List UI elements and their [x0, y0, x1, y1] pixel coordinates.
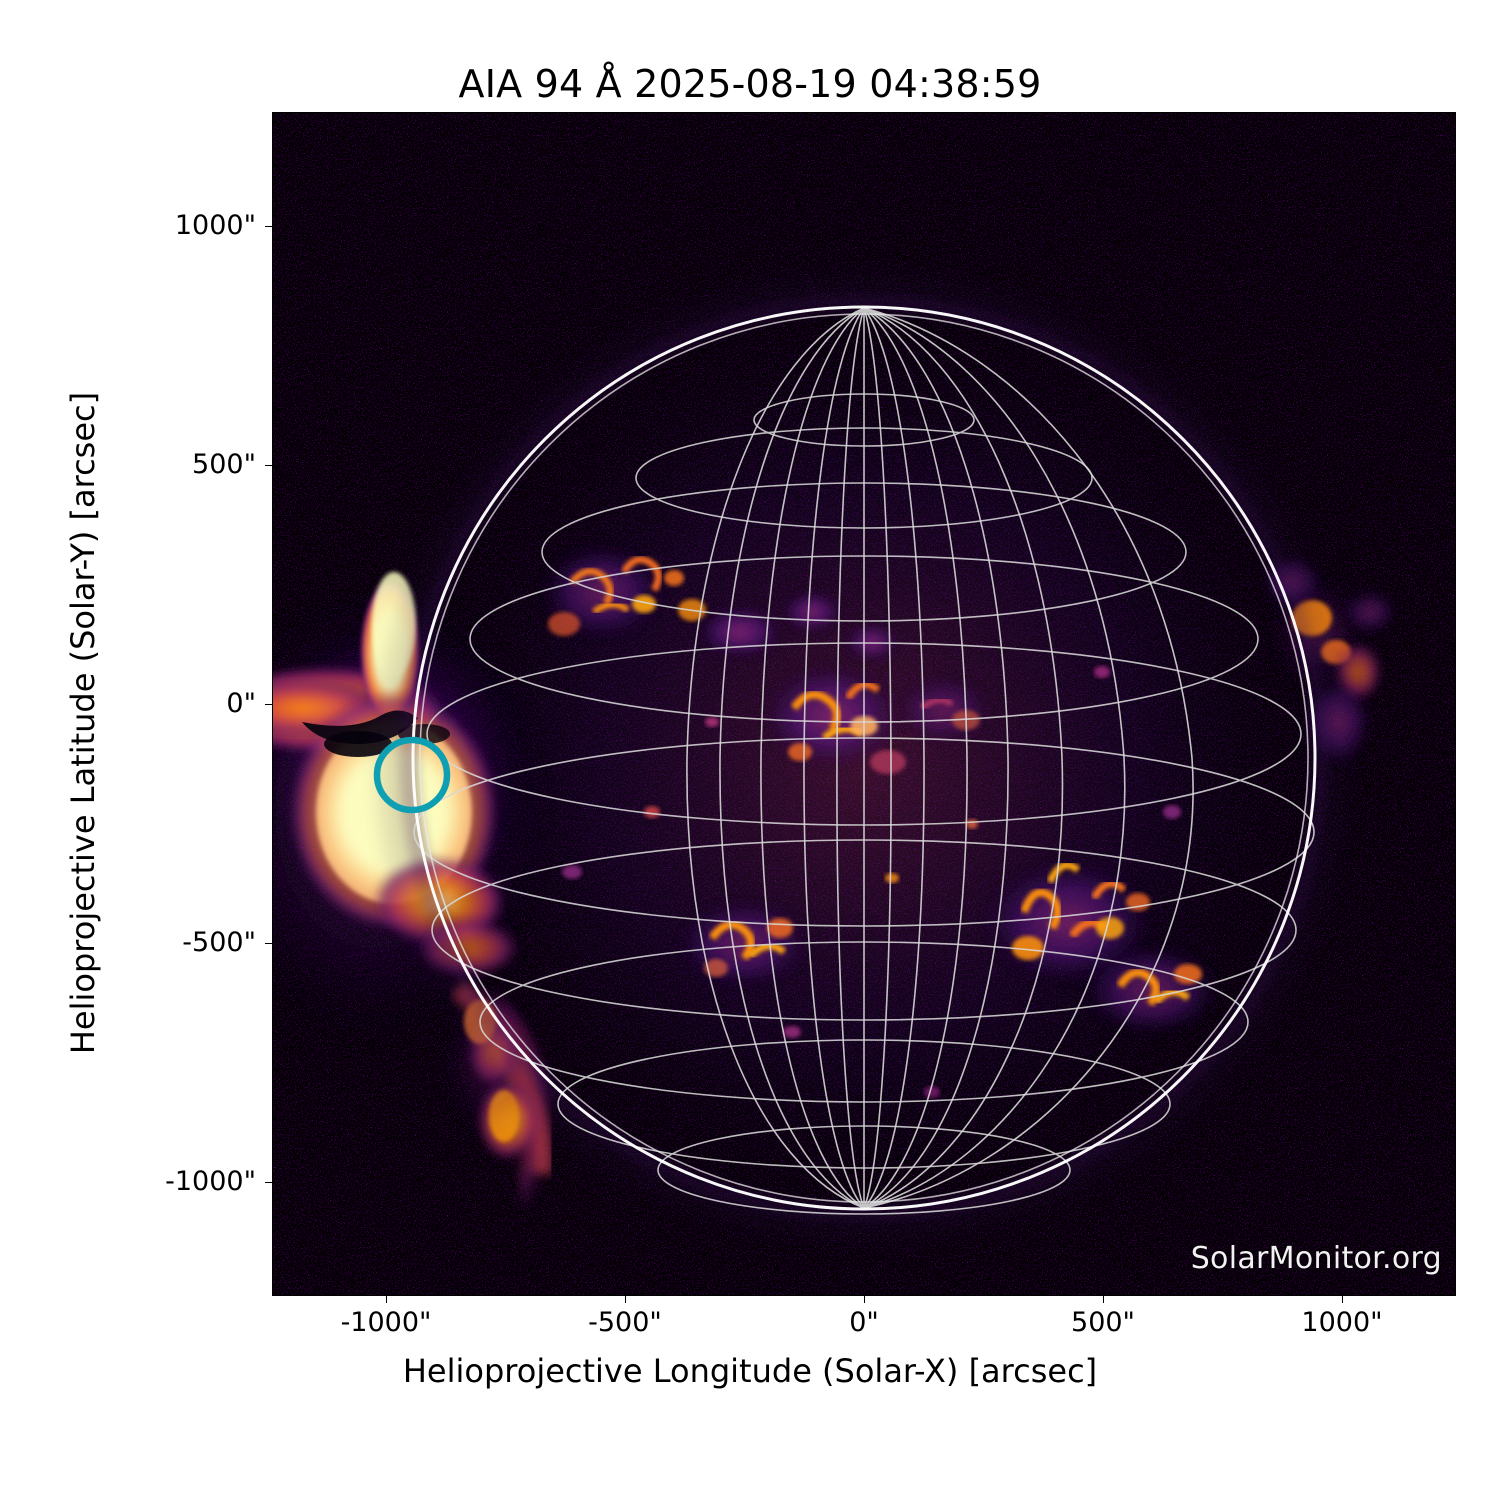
flare-marker-layer[interactable]	[272, 112, 1456, 1296]
xtick-mark-0	[386, 1296, 387, 1303]
xtick-mark-3	[1103, 1296, 1104, 1303]
xtick-mark-1	[625, 1296, 626, 1303]
xtick-mark-4	[1342, 1296, 1343, 1303]
xtick-label-1: -500"	[525, 1307, 725, 1338]
xtick-label-4: 1000"	[1242, 1307, 1442, 1338]
xtick-label-3: 500"	[1003, 1307, 1203, 1338]
solar-image-figure: AIA 94 Å 2025-08-19 04:38:59	[0, 0, 1500, 1500]
x-axis-label: Helioprojective Longitude (Solar-X) [arc…	[0, 1352, 1500, 1390]
solar-image-plot-area: SolarMonitor.org	[272, 112, 1456, 1296]
figure-title: AIA 94 Å 2025-08-19 04:38:59	[0, 62, 1500, 106]
ytick-mark-3	[265, 943, 272, 944]
xtick-label-0: -1000"	[286, 1307, 486, 1338]
y-axis-label: Helioprojective Latitude (Solar-Y) [arcs…	[64, 223, 102, 1223]
ytick-mark-1	[265, 465, 272, 466]
flare-region-marker-circle[interactable]	[377, 740, 447, 810]
ytick-mark-4	[265, 1182, 272, 1183]
ytick-mark-0	[265, 226, 272, 227]
ytick-mark-2	[265, 704, 272, 705]
watermark-label: SolarMonitor.org	[1191, 1241, 1442, 1276]
xtick-label-2: 0"	[764, 1307, 964, 1338]
xtick-mark-2	[864, 1296, 865, 1303]
solar-image-canvas: SolarMonitor.org	[272, 112, 1456, 1296]
